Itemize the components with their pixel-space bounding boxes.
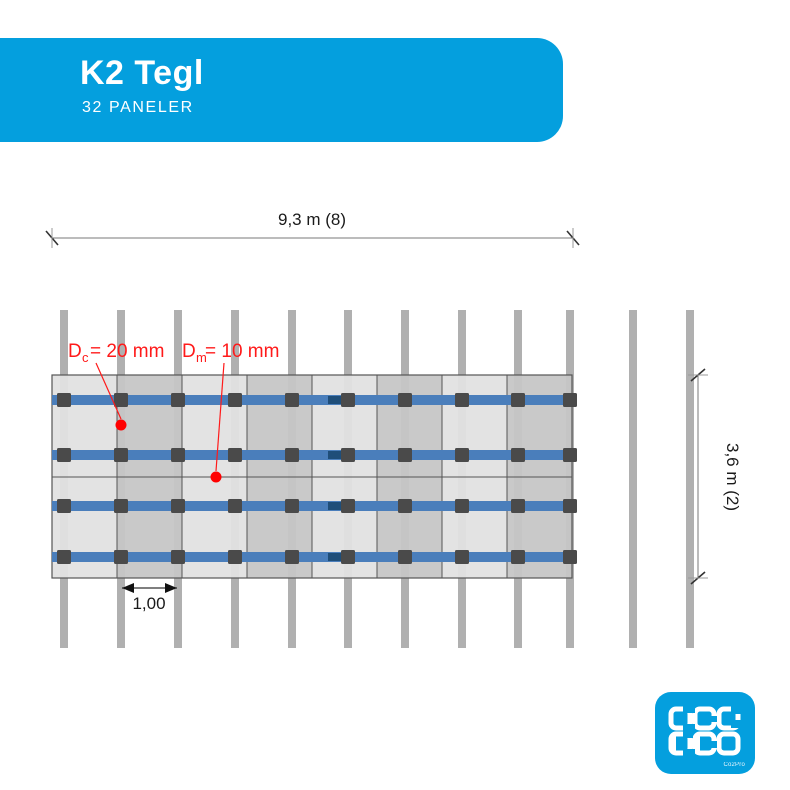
clamp	[455, 393, 469, 407]
clamp	[228, 499, 242, 513]
clamp	[285, 448, 299, 462]
clamp-gap-marker-dot	[116, 420, 127, 431]
roof-layout-drawing: 9,3 m (8) 3,6 m (2) 1,00 D c = 20 mm	[0, 0, 790, 790]
clamp-gap-label-sub: c	[82, 350, 89, 365]
clamp	[57, 499, 71, 513]
clamp	[171, 448, 185, 462]
clamp	[455, 448, 469, 462]
height-dimension: 3,6 m (2)	[688, 369, 742, 584]
logo-wordmark: Co2Pro	[723, 762, 745, 768]
clamp	[511, 448, 525, 462]
clamp	[398, 499, 412, 513]
rail	[52, 552, 572, 562]
clamp	[563, 448, 577, 462]
clamp	[114, 448, 128, 462]
drawing-stage: K2 Tegl 32 PANELER 9,3 m (8) 3,6 m (2)	[0, 0, 790, 790]
clamp	[114, 393, 128, 407]
width-dimension: 9,3 m (8)	[46, 210, 579, 248]
clamp	[171, 550, 185, 564]
clamp	[228, 550, 242, 564]
clamp	[57, 448, 71, 462]
clamp	[511, 393, 525, 407]
clamp	[398, 550, 412, 564]
clamp	[285, 499, 299, 513]
panel	[247, 477, 312, 578]
clamp	[57, 393, 71, 407]
height-dimension-label: 3,6 m (2)	[723, 443, 742, 511]
module-dimension: 1,00	[122, 583, 177, 613]
module-gap-label-value: = 10 mm	[205, 341, 279, 362]
co2pro-logo[interactable]: Co2Pro	[655, 692, 755, 774]
panel	[247, 375, 312, 477]
clamp	[563, 393, 577, 407]
clamp	[563, 550, 577, 564]
width-dimension-label: 9,3 m (8)	[278, 210, 346, 229]
clamp	[455, 499, 469, 513]
clamp	[285, 550, 299, 564]
panel	[442, 375, 507, 477]
clamp	[341, 393, 355, 407]
module-dimension-label: 1,00	[132, 594, 165, 613]
clamp	[341, 550, 355, 564]
rafter	[686, 310, 694, 648]
clamp-gap-label-value: = 20 mm	[90, 341, 164, 362]
clamp	[171, 393, 185, 407]
module-gap-marker-dot	[211, 472, 222, 483]
clamp	[114, 499, 128, 513]
clamp	[171, 499, 185, 513]
clamp	[398, 448, 412, 462]
rail	[52, 501, 572, 511]
clamp	[114, 550, 128, 564]
rail	[52, 395, 572, 405]
rail	[52, 450, 572, 460]
clamp	[285, 393, 299, 407]
clamp	[511, 550, 525, 564]
clamp	[341, 499, 355, 513]
clamp	[511, 499, 525, 513]
clamp	[228, 393, 242, 407]
clamp	[455, 550, 469, 564]
clamp	[398, 393, 412, 407]
rafter	[629, 310, 637, 648]
clamp	[228, 448, 242, 462]
panel	[442, 477, 507, 578]
clamp	[341, 448, 355, 462]
module-gap-label-d: D	[182, 341, 196, 362]
clamp-gap-label-d: D	[68, 341, 82, 362]
clamp	[563, 499, 577, 513]
clamp	[57, 550, 71, 564]
